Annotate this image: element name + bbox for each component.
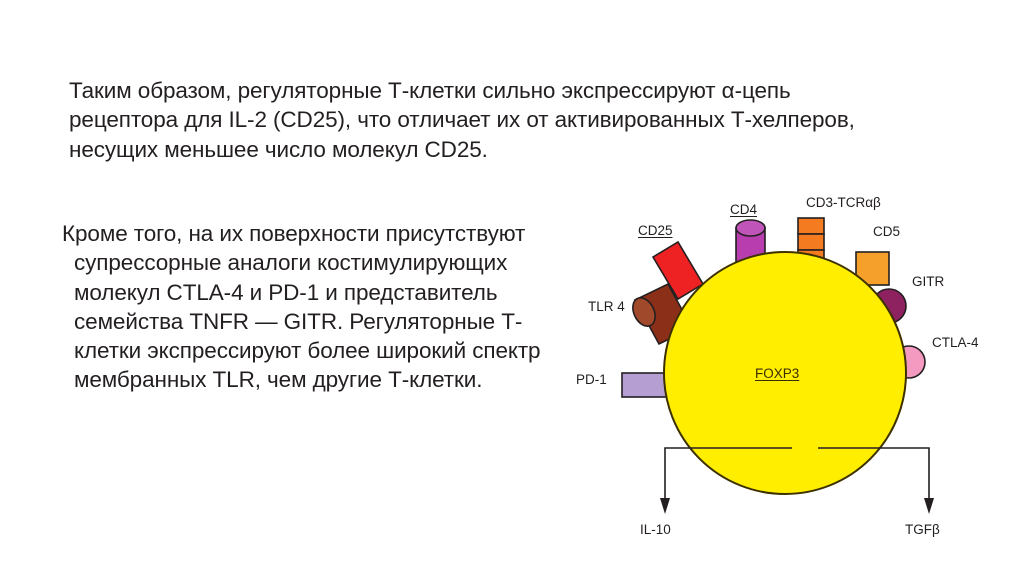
receptor-label-cd25: CD25	[638, 224, 673, 238]
receptor-label-cd5: CD5	[873, 225, 900, 239]
nucleus-label-foxp3: FOXP3	[755, 366, 799, 381]
receptor-label-tlr4: TLR 4	[588, 300, 625, 314]
treg-cell-diagram: CD25 CD4 CD3-TCRαβ CD5 GITR CTLA-4 TLR 4…	[560, 180, 1024, 550]
receptor-label-cd3-tcr: CD3-TCRαβ	[806, 196, 881, 210]
secretion-label-tgfb: TGFβ	[905, 523, 940, 537]
secretion-label-il10: IL-10	[640, 523, 671, 537]
slide-canvas: Таким образом, регуляторные Т-клетки сил…	[0, 0, 1024, 576]
treg-diagram-svg	[560, 180, 1024, 550]
paragraph-two-text: Кроме того, на их поверхности присутству…	[62, 219, 582, 395]
receptor-label-ctla4: CTLA-4	[932, 336, 979, 350]
receptor-label-gitr: GITR	[912, 275, 944, 289]
paragraph-one: Таким образом, регуляторные Т-клетки сил…	[69, 76, 881, 164]
paragraph-two: Кроме того, на их поверхности присутству…	[62, 219, 582, 395]
receptor-label-pd1: PD-1	[576, 373, 607, 387]
receptor-label-cd4: CD4	[730, 203, 757, 217]
